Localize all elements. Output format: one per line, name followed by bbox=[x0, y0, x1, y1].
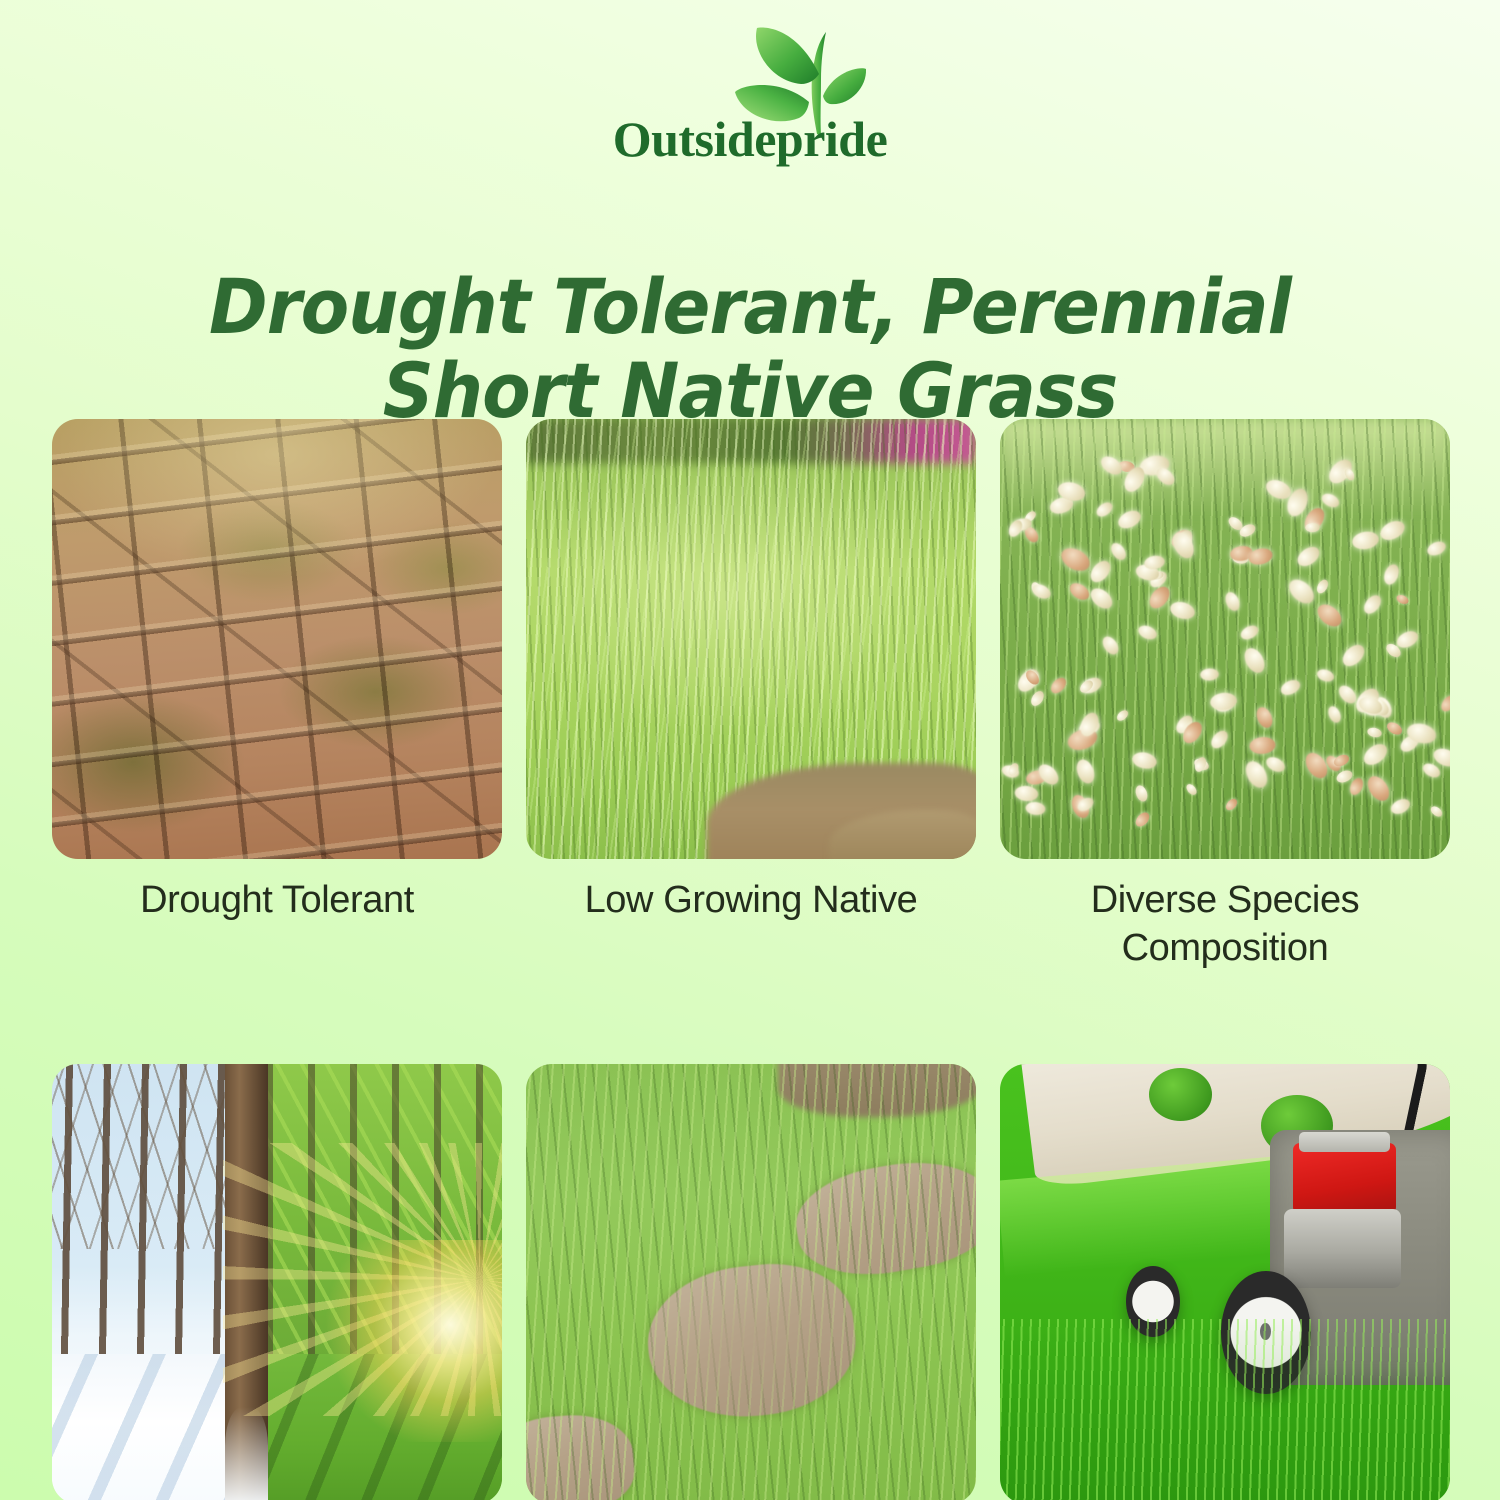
winter-summer-forest-photo bbox=[52, 1064, 502, 1500]
stepping-stones-in-grass-photo bbox=[526, 1064, 976, 1500]
feature-card-diverse-species-composition: Diverse Species Composition bbox=[1000, 419, 1450, 972]
cracked-dry-earth-photo bbox=[52, 419, 502, 859]
feature-card-low-growing-native: Low Growing Native bbox=[526, 419, 976, 972]
feature-card-usda-zones: USDA Zones: 3 - 9 bbox=[52, 1064, 502, 1500]
feature-caption-diverse-species-composition: Diverse Species Composition bbox=[1000, 877, 1450, 972]
fine-green-grass-photo bbox=[526, 419, 976, 859]
headline-line-1: Drought Tolerant, Perennial bbox=[108, 265, 1391, 349]
feature-card-low-maintenance: Low Maintenance bbox=[1000, 1064, 1450, 1500]
lawn-mower-on-lawn-photo bbox=[1000, 1064, 1450, 1500]
feature-card-adaptable-soil: Adaptable to Wide Range of Soil bbox=[526, 1064, 976, 1500]
page-title: Drought Tolerant, Perennial Short Native… bbox=[108, 265, 1391, 432]
feature-caption-low-growing-native: Low Growing Native bbox=[526, 877, 976, 925]
feature-caption-drought-tolerant: Drought Tolerant bbox=[52, 877, 502, 925]
brand-name: Outsidepride bbox=[613, 114, 888, 164]
brand-logo: Outsidepride bbox=[0, 22, 1500, 202]
grass-meadow-seedheads-photo bbox=[1000, 419, 1450, 859]
feature-grid: Drought Tolerant Low Growing Native bbox=[52, 419, 1450, 1500]
product-infographic: Outsidepride Drought Tolerant, Perennial… bbox=[0, 0, 1500, 1500]
feature-card-drought-tolerant: Drought Tolerant bbox=[52, 419, 502, 972]
